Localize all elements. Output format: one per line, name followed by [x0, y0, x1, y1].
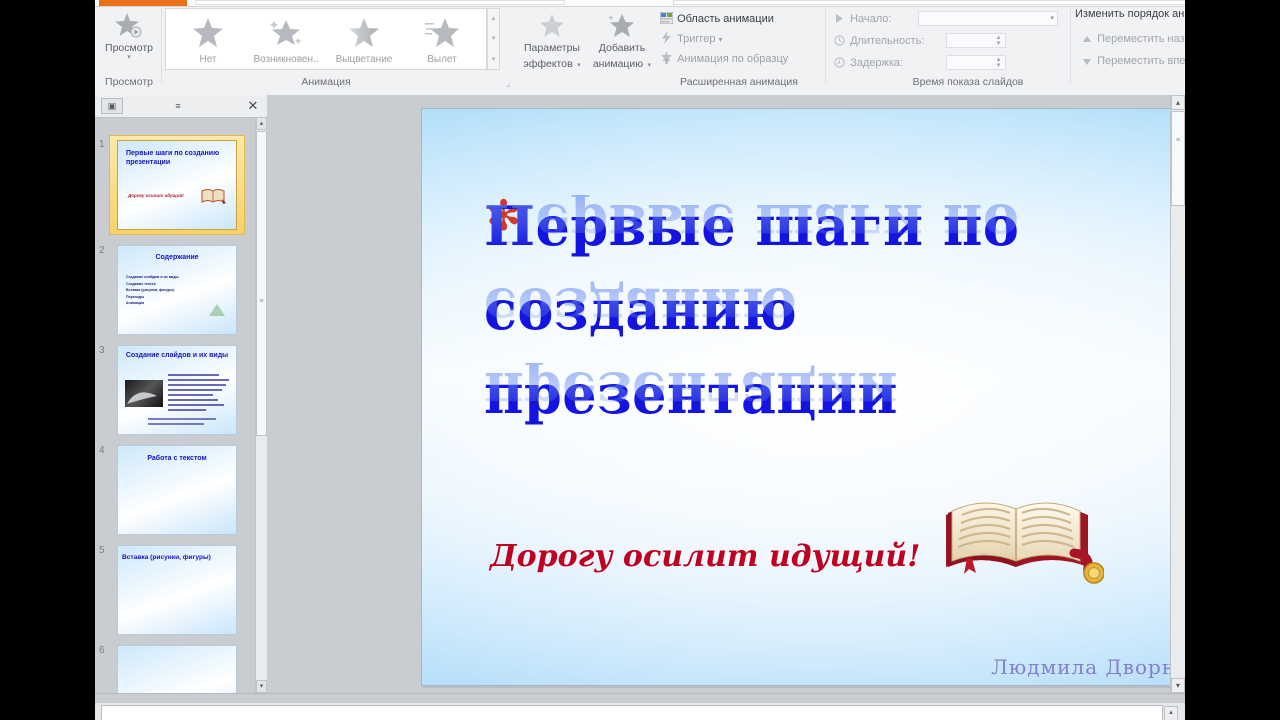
thumbnail-4-title: Работа с текстом	[118, 455, 236, 462]
group-label-preview: Просмотр	[99, 76, 159, 88]
move-later-label: Переместить вперёд	[1097, 55, 1185, 67]
title-line-3-reflection: презентации	[484, 363, 898, 421]
add-animation-label-2: анимацию	[593, 58, 643, 70]
star-preview-icon	[99, 8, 159, 42]
thumbnail-3[interactable]: Создание слайдов и их виды	[117, 345, 237, 435]
editor-scroll-thumb[interactable]	[1171, 111, 1185, 206]
slides-pane: ▣ ≡ ✕ 1 Первые шаги по созданию презента…	[95, 95, 267, 693]
thumbnail-1-subtitle: Дорогу осилит идущий!	[128, 193, 184, 198]
effect-options-caret-icon[interactable]: ▾	[577, 62, 581, 69]
vertical-splitter[interactable]	[267, 95, 275, 693]
thumbnail-3-title: Создание слайдов и их виды	[118, 351, 236, 360]
delay-spinner-arrows-icon[interactable]: ▴▾	[994, 57, 1003, 69]
thumbnail-3-footer	[148, 418, 228, 428]
thumbnail-1[interactable]: Первые шаги по созданию презентации Доро…	[117, 140, 237, 230]
thumbnail-5[interactable]: Вставка (рисунки, фигуры)	[117, 545, 237, 635]
slides-scroll-up-icon[interactable]: ▴	[256, 117, 267, 130]
duration-label: Длительность:	[850, 35, 924, 47]
close-icon[interactable]: ✕	[245, 98, 261, 114]
title-line-2-reflection: созданию	[484, 279, 797, 337]
animation-painter-label: Анимация по образцу	[677, 53, 788, 65]
gallery-item-appear-label: Возникновен..	[248, 54, 324, 65]
notes-scroll-up-icon[interactable]: ▴	[1165, 707, 1177, 720]
watermark: Людмила Дворник	[991, 655, 1185, 679]
move-earlier-label: Переместить назад	[1097, 33, 1185, 45]
thumbnail-1-title: Первые шаги по созданию презентации	[118, 149, 236, 167]
preview-button-label: Просмотр	[99, 42, 159, 54]
ribbon-strip-right	[673, 0, 1185, 5]
trigger-label: Триггер	[677, 33, 715, 45]
gallery-scrollbar[interactable]: ▴ ▾ ▾	[487, 8, 500, 70]
ribbon-group-timing: Начало: ▾ Длительность: ▴▾ Задержк	[828, 6, 1073, 88]
trigger-icon	[659, 31, 674, 50]
thumb2-b1: Создание слайдов и их виды	[126, 274, 228, 281]
tab-outline[interactable]: ≡	[167, 98, 189, 114]
duration-spinner-arrows-icon[interactable]: ▴▾	[994, 35, 1003, 47]
editor-scroll-up-icon[interactable]: ▴	[1171, 95, 1185, 110]
thumbnail-4[interactable]: Работа с текстом	[117, 445, 237, 535]
duration-spinner[interactable]: ▴▾	[946, 33, 1006, 48]
title-line-2: созданию созданию	[484, 281, 1104, 365]
trigger-caret-icon[interactable]: ▾	[719, 35, 723, 44]
thumbnail-number-4: 4	[99, 445, 105, 456]
thumbnail-number-6: 6	[99, 645, 105, 656]
notes-input[interactable]	[101, 705, 1163, 720]
thumbnail-2-shape-icon	[208, 303, 226, 322]
quick-access-strip	[195, 0, 565, 5]
title-line-3: презентации презентации	[484, 365, 1104, 449]
slides-scroll-down-icon[interactable]: ▾	[256, 680, 267, 693]
group-label-timing: Время показа слайдов	[868, 76, 1068, 88]
ribbon-group-animation: Нет Возникновен.. Выцветание	[165, 6, 510, 88]
open-book-icon[interactable]	[934, 481, 1104, 591]
delay-label: Задержка:	[850, 57, 903, 69]
animation-pane-button[interactable]: Область анимации	[659, 10, 774, 28]
ribbon-group-preview: Просмотр ▾ Просмотр	[99, 6, 159, 88]
thumbnail-2[interactable]: Содержание Создание слайдов и их виды Со…	[117, 245, 237, 335]
thumb2-b3: Вставка (рисунки, фигуры)	[126, 287, 228, 294]
thumbnail-number-3: 3	[99, 345, 105, 356]
slides-pane-scrollbar[interactable]: ▴ ≡ ▾	[255, 117, 267, 693]
slides-pane-header: ▣ ≡ ✕	[95, 95, 267, 118]
gallery-item-none[interactable]: Нет	[170, 12, 246, 68]
ribbon-group-add-animation: Добавить анимацию ▾	[589, 6, 655, 88]
move-later-icon	[1079, 54, 1094, 72]
thumbnail-6[interactable]	[117, 645, 237, 693]
reorder-heading: Изменить порядок анимации	[1075, 8, 1185, 20]
thumbnail-number-1: 1	[99, 139, 105, 150]
group-separator-2	[825, 8, 826, 84]
thumbnail-number-2: 2	[99, 245, 105, 256]
notes-pane: ▴ ▾	[95, 703, 1185, 720]
animation-painter-icon	[659, 51, 674, 70]
delay-icon	[832, 56, 847, 74]
delay-row: Задержка:	[832, 54, 903, 72]
gallery-item-fade[interactable]: Выцветание	[326, 12, 402, 68]
start-label: Начало:	[850, 13, 891, 25]
add-animation-label-1: Добавить	[589, 42, 655, 54]
move-later-button[interactable]: Переместить вперёд	[1079, 52, 1185, 70]
start-icon	[832, 12, 847, 30]
star-fade-icon	[326, 12, 402, 53]
effect-options-label-1: Параметры	[519, 42, 585, 54]
editor-scrollbar[interactable]: ▴ ≡ ▾	[1170, 95, 1185, 693]
thumb2-b2: Создание текста	[126, 281, 228, 288]
thumbnail-3-image	[125, 380, 163, 407]
start-row: Начало:	[832, 10, 891, 28]
preview-button[interactable]: Просмотр ▾	[99, 8, 159, 61]
star-effect-options-icon	[519, 8, 585, 42]
slide-canvas[interactable]: ✻ Первые шаги по Первые шаги по созданию…	[421, 108, 1185, 686]
gallery-more-icon[interactable]: ▾	[488, 50, 499, 70]
ribbon: Просмотр ▾ Просмотр Нет Возникнове	[95, 0, 1185, 95]
group-separator-3	[1070, 8, 1071, 84]
thumbnail-3-list	[168, 374, 232, 414]
powerpoint-window: Просмотр ▾ Просмотр Нет Возникнове	[95, 0, 1185, 720]
workspace: ▣ ≡ ✕ 1 Первые шаги по созданию презента…	[95, 95, 1185, 720]
slide-title[interactable]: Первые шаги по Первые шаги по созданию с…	[484, 197, 1104, 449]
delay-spinner[interactable]: ▴▾	[946, 55, 1006, 70]
start-dropdown[interactable]: ▾	[918, 11, 1058, 26]
chevron-down-icon[interactable]: ▾	[1050, 12, 1054, 26]
screen: Просмотр ▾ Просмотр Нет Возникнове	[0, 0, 1280, 720]
animation-gallery[interactable]: Нет Возникновен.. Выцветание	[165, 8, 487, 70]
group-label-advanced: Расширенная анимация	[655, 76, 823, 88]
animation-dialog-launcher-icon[interactable]: ⌟	[506, 79, 510, 88]
editor-scroll-down-icon[interactable]: ▾	[1171, 678, 1185, 693]
trigger-button[interactable]: Триггер ▾	[659, 30, 723, 48]
gallery-scroll-down-icon[interactable]: ▾	[488, 29, 499, 49]
gallery-item-flyin[interactable]: Вылет	[404, 12, 480, 68]
ribbon-group-advanced-animation: Область анимации Триггер ▾ Анимация по о…	[655, 6, 823, 88]
duration-icon	[832, 34, 847, 52]
animation-painter-button[interactable]: Анимация по образцу	[659, 50, 788, 68]
effect-options-label-2: эффектов	[523, 58, 572, 70]
ribbon-group-effect-options: Параметры эффектов ▾	[519, 6, 585, 88]
move-earlier-button[interactable]: Переместить назад	[1079, 30, 1185, 48]
add-animation-caret-icon[interactable]: ▾	[648, 62, 652, 69]
slide-editor: ✻ Первые шаги по Первые шаги по созданию…	[275, 95, 1185, 693]
notes-scrollbar[interactable]: ▴ ▾	[1164, 706, 1178, 720]
gallery-item-flyin-label: Вылет	[404, 54, 480, 65]
animation-pane-label: Область анимации	[677, 13, 774, 25]
thumb2-b4: Переходы	[126, 294, 228, 301]
star-appear-icon	[248, 12, 324, 53]
thumbnail-number-5: 5	[99, 545, 105, 556]
move-earlier-icon	[1079, 32, 1094, 50]
star-flyin-icon	[404, 12, 480, 53]
thumbnail-1-book-icon	[200, 187, 226, 210]
editor-scroll-grip-icon: ≡	[1173, 137, 1183, 145]
slides-scroll-thumb[interactable]	[256, 131, 267, 436]
add-animation-button[interactable]: Добавить анимацию ▾	[589, 8, 655, 72]
tab-slides[interactable]: ▣	[101, 98, 123, 114]
thumbnail-5-title: Вставка (рисунки, фигуры)	[118, 554, 236, 561]
star-none-icon	[170, 12, 246, 53]
ribbon-group-reorder: Изменить порядок анимации Переместить на…	[1073, 6, 1183, 88]
duration-row: Длительность:	[832, 32, 924, 50]
thumbnail-list[interactable]: 1 Первые шаги по созданию презентации До…	[95, 117, 255, 693]
gallery-item-fade-label: Выцветание	[326, 54, 402, 65]
gallery-item-none-label: Нет	[170, 54, 246, 65]
effect-options-button[interactable]: Параметры эффектов ▾	[519, 8, 585, 72]
group-separator	[161, 8, 162, 84]
gallery-item-appear[interactable]: Возникновен..	[248, 12, 324, 68]
gallery-scroll-up-icon[interactable]: ▴	[488, 9, 499, 29]
animation-pane-icon	[659, 12, 674, 30]
title-line-1: Первые шаги по Первые шаги по	[484, 197, 1104, 281]
star-add-animation-icon	[589, 8, 655, 42]
thumbnail-2-title: Содержание	[118, 254, 236, 261]
slides-scroll-grip-icon: ≡	[257, 297, 266, 306]
group-label-animation: Анимация	[165, 76, 487, 88]
preview-caret-icon[interactable]: ▾	[99, 54, 159, 61]
title-line-1-reflection: Первые шаги по	[484, 195, 1019, 253]
slide-subtitle[interactable]: Дорогу осилит идущий!	[490, 539, 920, 574]
